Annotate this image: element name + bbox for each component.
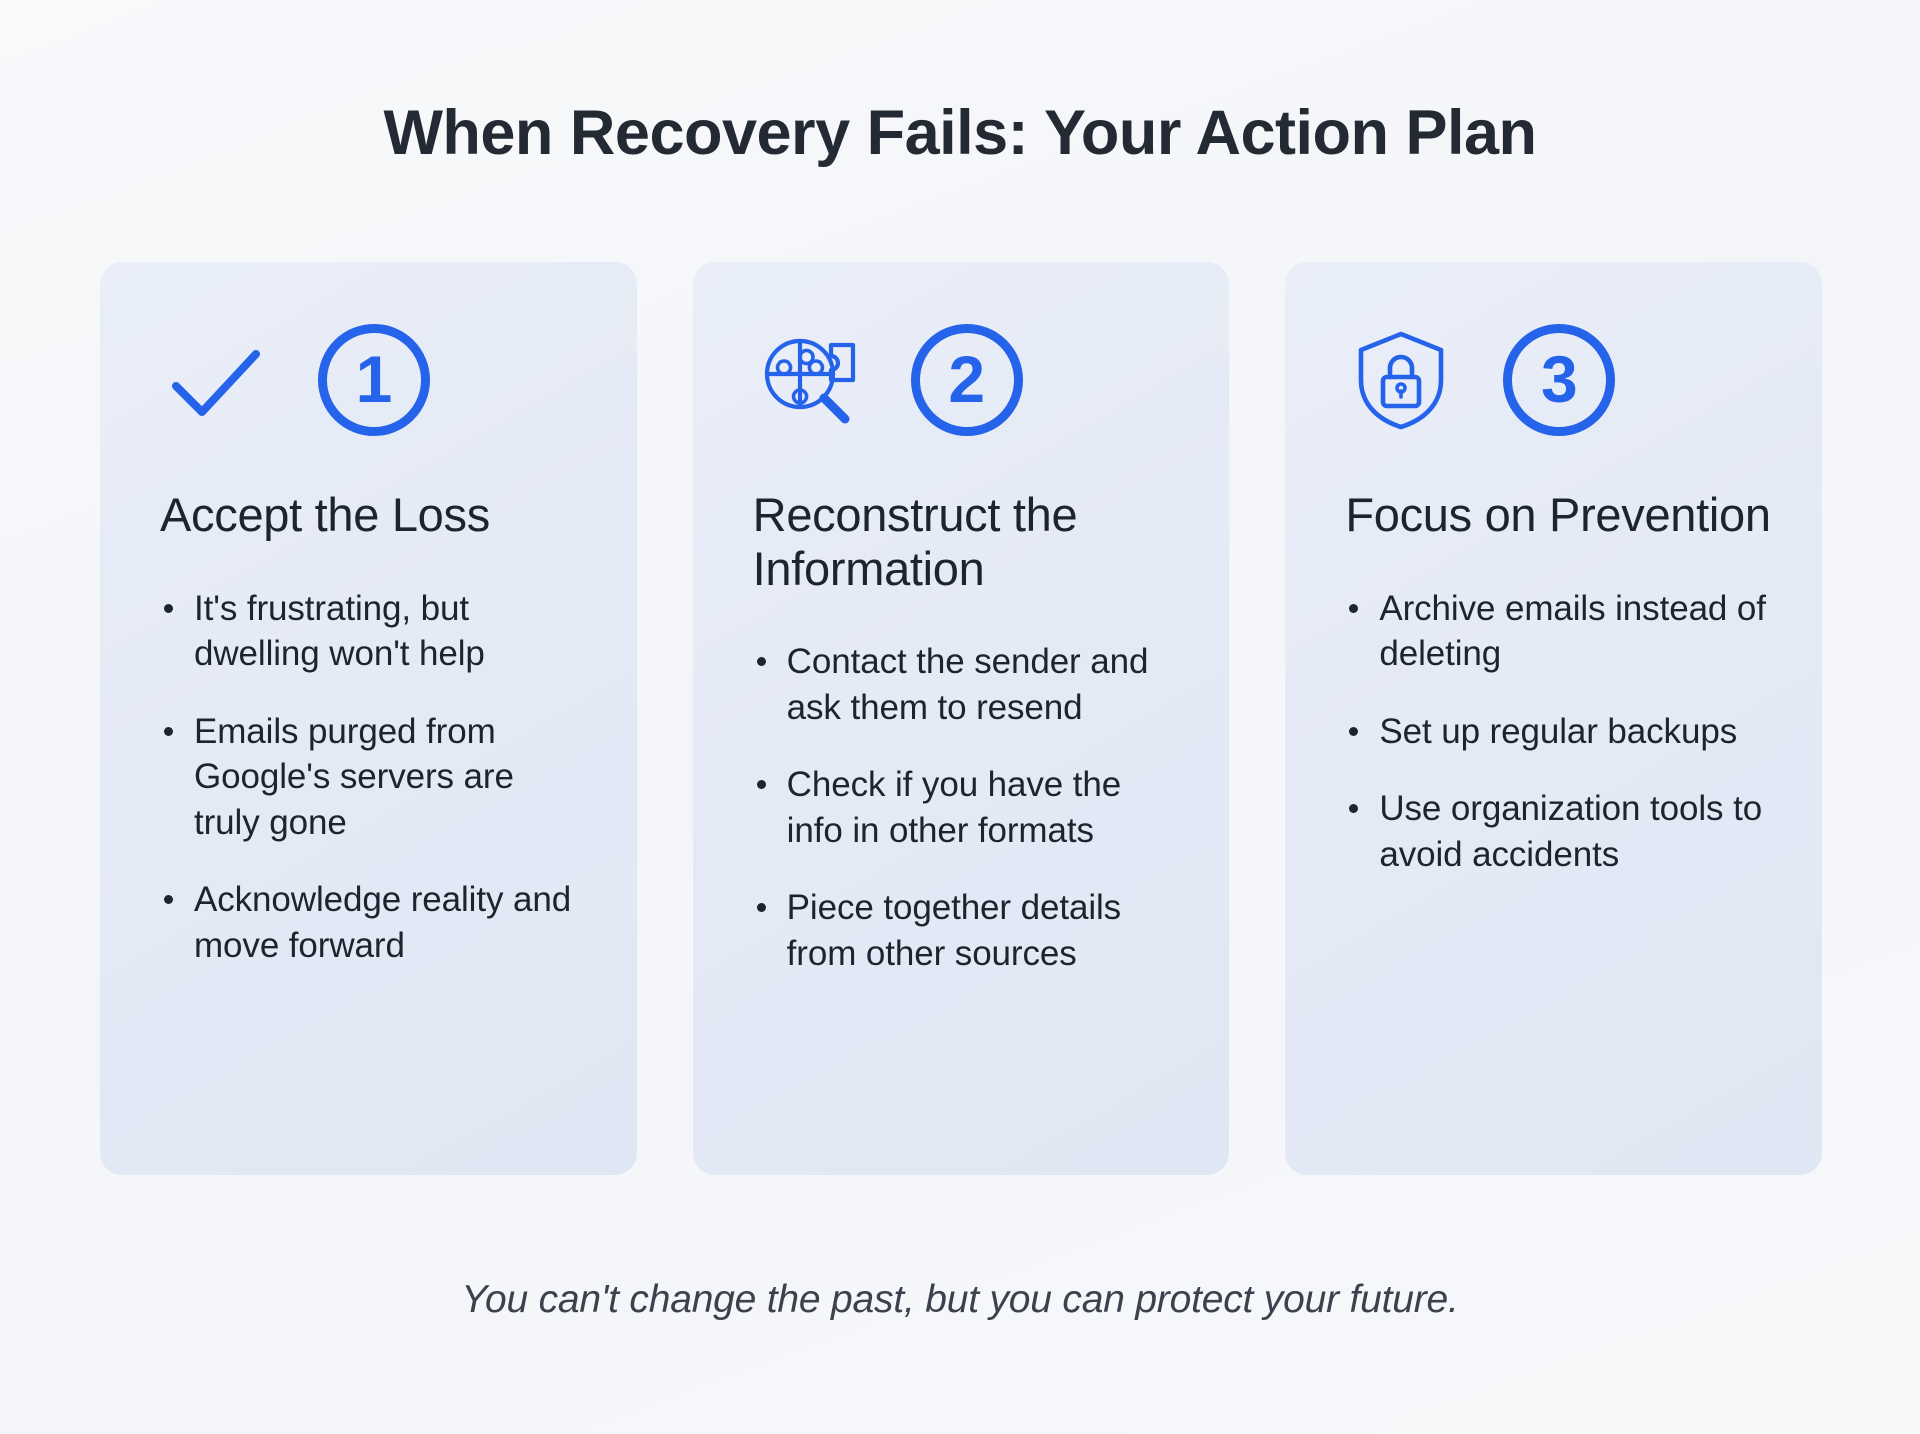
card-2-icon-row: 2: [753, 316, 1182, 444]
bullet-dot-icon: [1349, 604, 1358, 613]
puzzle-magnifier-icon: [753, 324, 865, 436]
shield-lock-icon: [1345, 324, 1457, 436]
bullet-dot-icon: [757, 657, 766, 666]
card-3-heading: Focus on Prevention: [1345, 488, 1774, 542]
step-card-1: 1 Accept the Loss It's frustrating, but …: [100, 262, 637, 1175]
bullet-dot-icon: [164, 895, 173, 904]
list-item-text: Emails purged from Google's servers are …: [194, 712, 514, 842]
card-2-bullet-list: Contact the sender and ask them to resen…: [741, 639, 1182, 976]
list-item-text: Use organization tools to avoid accident…: [1379, 789, 1762, 874]
list-item: Contact the sender and ask them to resen…: [787, 639, 1182, 730]
step-number-badge-2: 2: [911, 324, 1023, 436]
list-item-text: Contact the sender and ask them to resen…: [787, 642, 1149, 727]
list-item: Check if you have the info in other form…: [787, 762, 1182, 853]
list-item: It's frustrating, but dwelling won't hel…: [194, 586, 589, 677]
step-number-badge-1: 1: [318, 324, 430, 436]
card-3-icon-row: 3: [1345, 316, 1774, 444]
list-item: Emails purged from Google's servers are …: [194, 709, 589, 846]
list-item: Piece together details from other source…: [787, 885, 1182, 976]
list-item-text: It's frustrating, but dwelling won't hel…: [194, 589, 485, 674]
footer-note: You can't change the past, but you can p…: [0, 1278, 1920, 1322]
step-number-badge-3: 3: [1503, 324, 1615, 436]
step-card-3: 3 Focus on Prevention Archive emails ins…: [1285, 262, 1822, 1175]
bullet-dot-icon: [757, 780, 766, 789]
card-grid: 1 Accept the Loss It's frustrating, but …: [100, 262, 1822, 1175]
step-number-1: 1: [356, 346, 393, 412]
card-1-bullet-list: It's frustrating, but dwelling won't hel…: [148, 586, 589, 969]
list-item: Acknowledge reality and move forward: [194, 877, 589, 968]
step-number-3: 3: [1541, 346, 1578, 412]
bullet-dot-icon: [757, 903, 766, 912]
check-mark-icon: [160, 324, 272, 436]
page-title: When Recovery Fails: Your Action Plan: [0, 96, 1920, 172]
list-item-text: Archive emails instead of deleting: [1379, 589, 1766, 674]
bullet-dot-icon: [1349, 804, 1358, 813]
card-1-icon-row: 1: [160, 316, 589, 444]
bullet-dot-icon: [164, 727, 173, 736]
list-item-text: Check if you have the info in other form…: [787, 765, 1122, 850]
list-item-text: Acknowledge reality and move forward: [194, 880, 571, 965]
list-item: Use organization tools to avoid accident…: [1379, 786, 1774, 877]
list-item-text: Piece together details from other source…: [787, 888, 1121, 973]
bullet-dot-icon: [1349, 727, 1358, 736]
bullet-dot-icon: [164, 604, 173, 613]
step-card-2: 2 Reconstruct the Information Contact th…: [693, 262, 1230, 1175]
card-2-heading: Reconstruct the Information: [753, 488, 1182, 595]
step-number-2: 2: [948, 346, 985, 412]
card-3-bullet-list: Archive emails instead of deleting Set u…: [1333, 586, 1774, 878]
list-item-text: Set up regular backups: [1379, 712, 1737, 751]
list-item: Set up regular backups: [1379, 709, 1774, 755]
infographic-page: When Recovery Fails: Your Action Plan 1 …: [0, 0, 1920, 1434]
list-item: Archive emails instead of deleting: [1379, 586, 1774, 677]
card-1-heading: Accept the Loss: [160, 488, 589, 542]
